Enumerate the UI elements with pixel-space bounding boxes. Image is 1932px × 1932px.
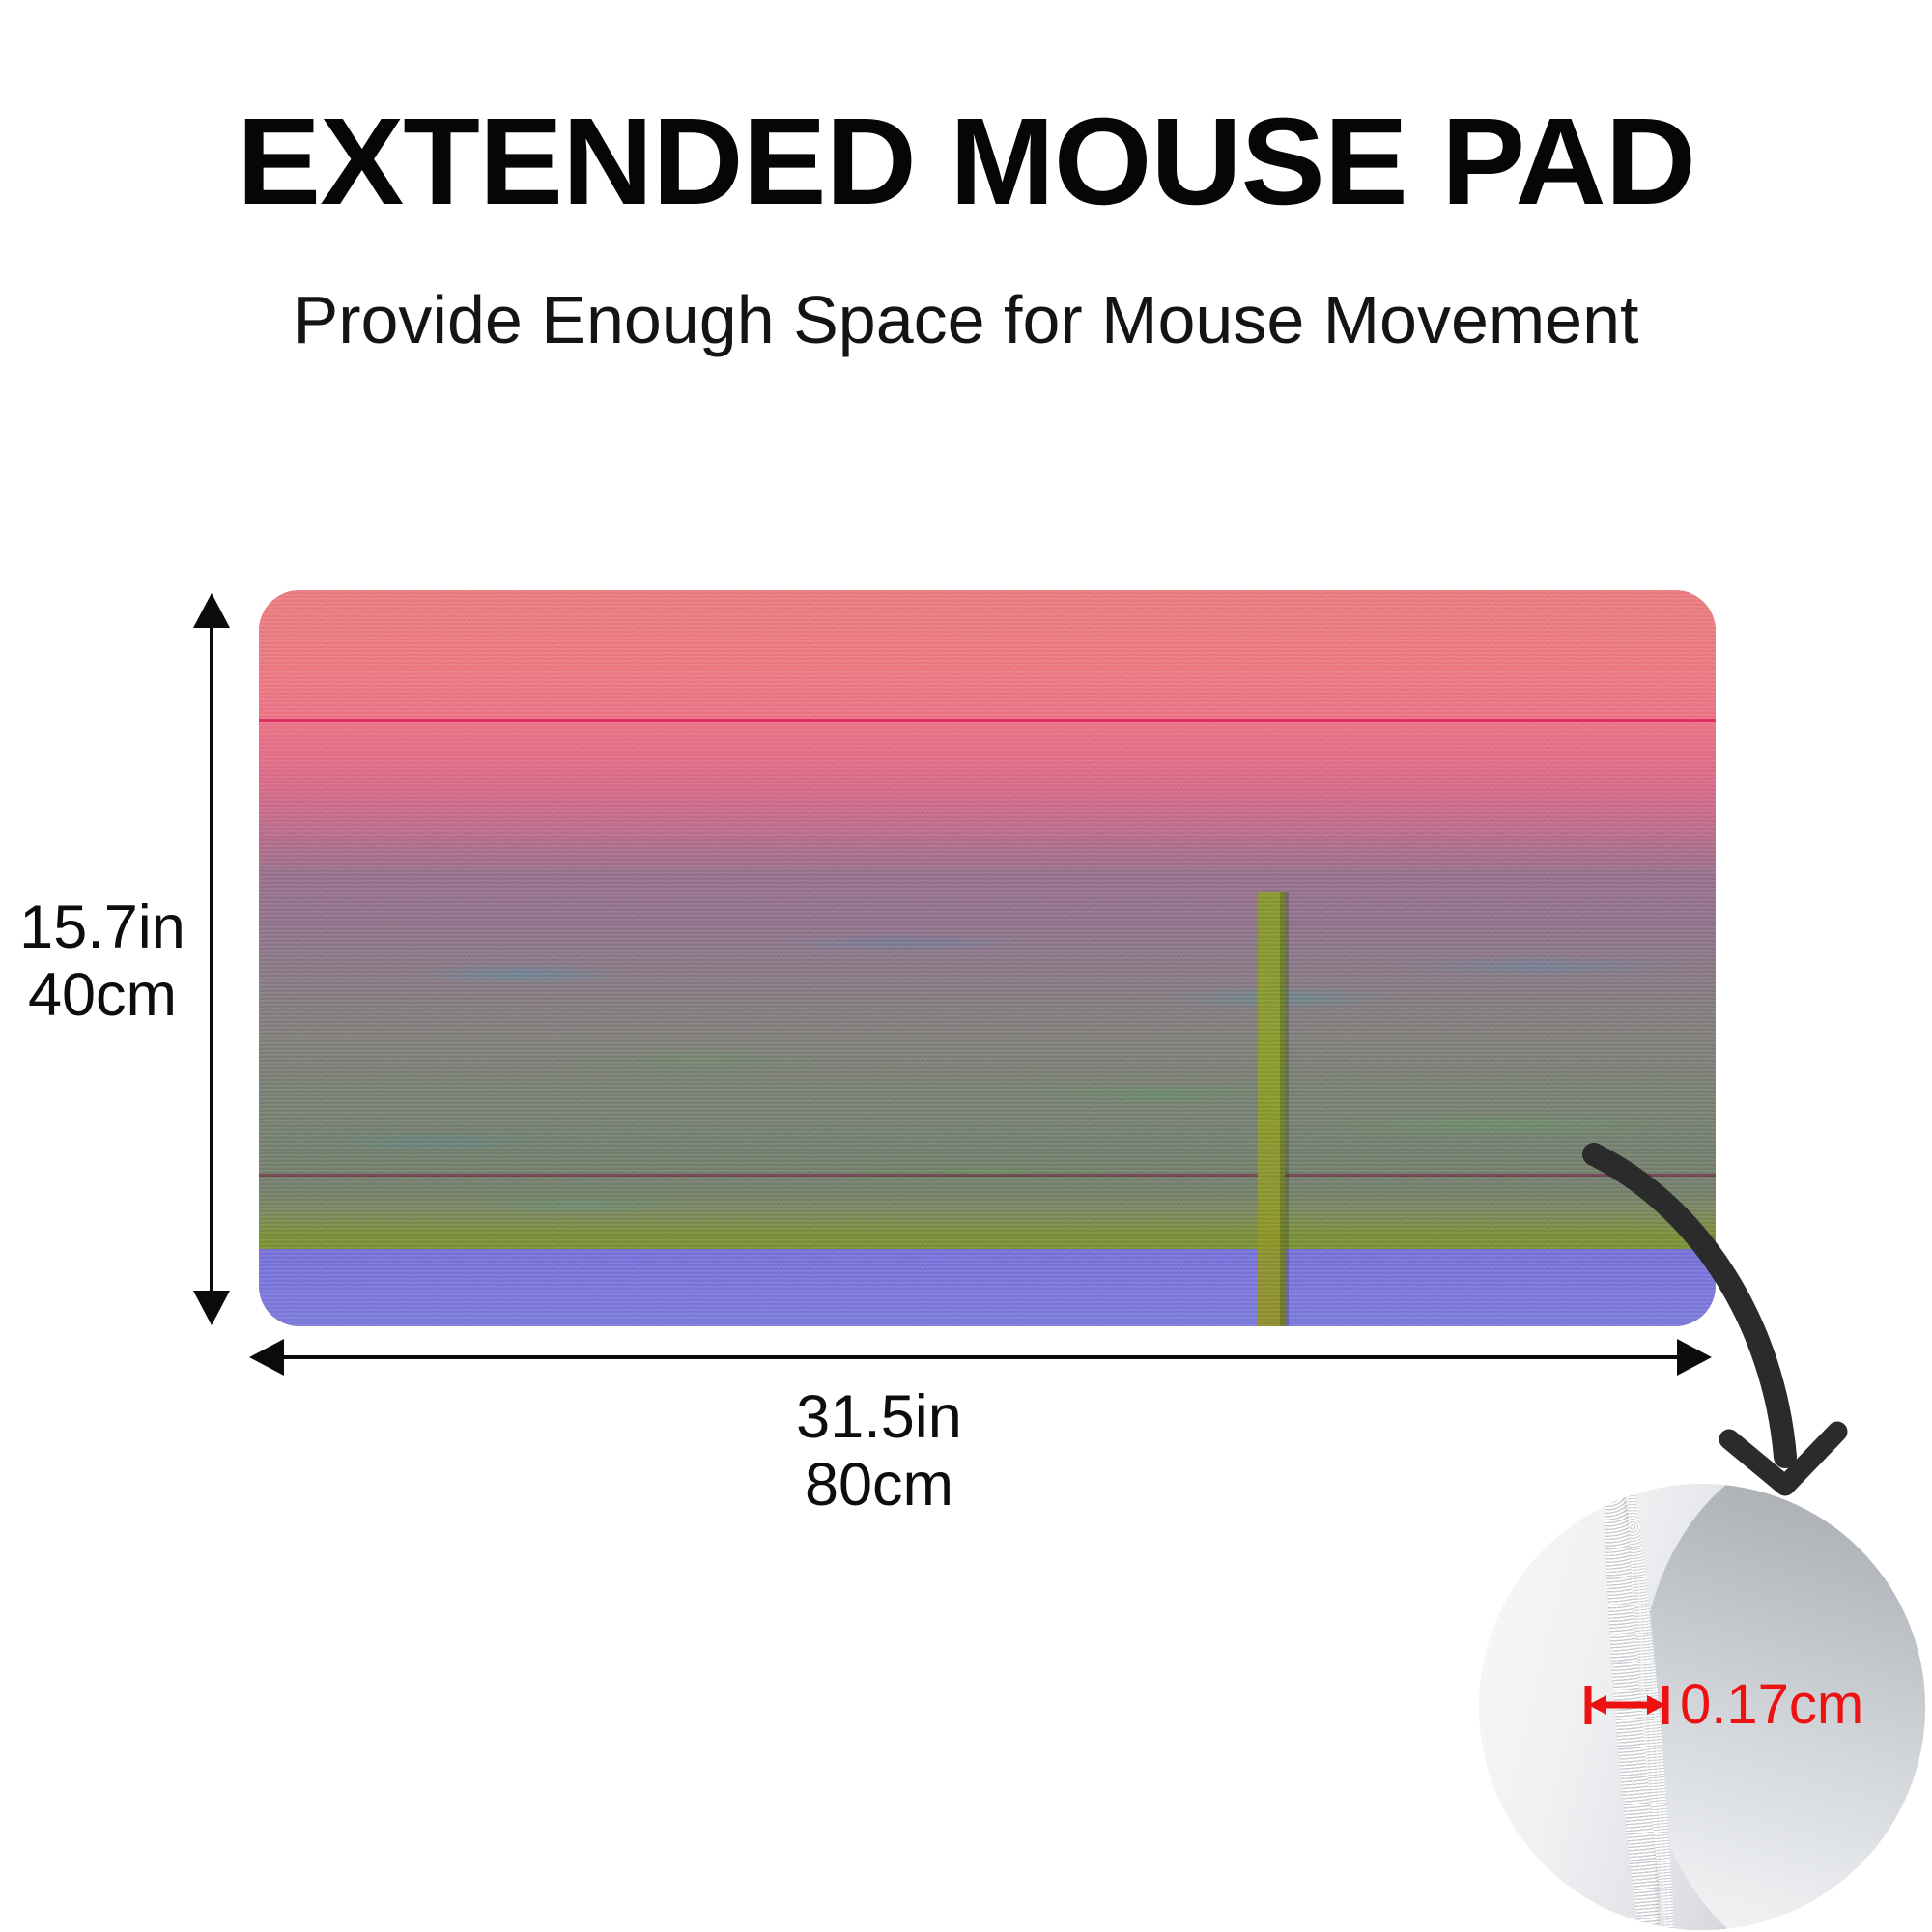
thickness-dimension-marker-icon	[1583, 1678, 1670, 1732]
width-dimension-line	[280, 1355, 1681, 1359]
callout-arrow-icon	[1584, 1150, 1932, 1507]
page-title: EXTENDED MOUSE PAD	[0, 100, 1932, 224]
thickness-zoom-circle: 0.17cm	[1479, 1484, 1925, 1930]
mouse-pad-surface	[259, 590, 1716, 1326]
width-dimension-label: 31.5in 80cm	[734, 1383, 1024, 1519]
fabric-noise-texture	[259, 590, 1716, 1326]
page-subtitle: Provide Enough Space for Mouse Movement	[0, 285, 1932, 355]
height-arrow-down-icon	[193, 1291, 230, 1325]
width-arrow-left-icon	[249, 1339, 284, 1376]
thickness-label: 0.17cm	[1680, 1677, 1863, 1733]
height-dimension-label: 15.7in 40cm	[8, 894, 197, 1029]
mouse-pad-product	[259, 590, 1716, 1326]
height-dimension-line	[210, 618, 213, 1314]
thickness-callout: 0.17cm	[1583, 1677, 1863, 1733]
